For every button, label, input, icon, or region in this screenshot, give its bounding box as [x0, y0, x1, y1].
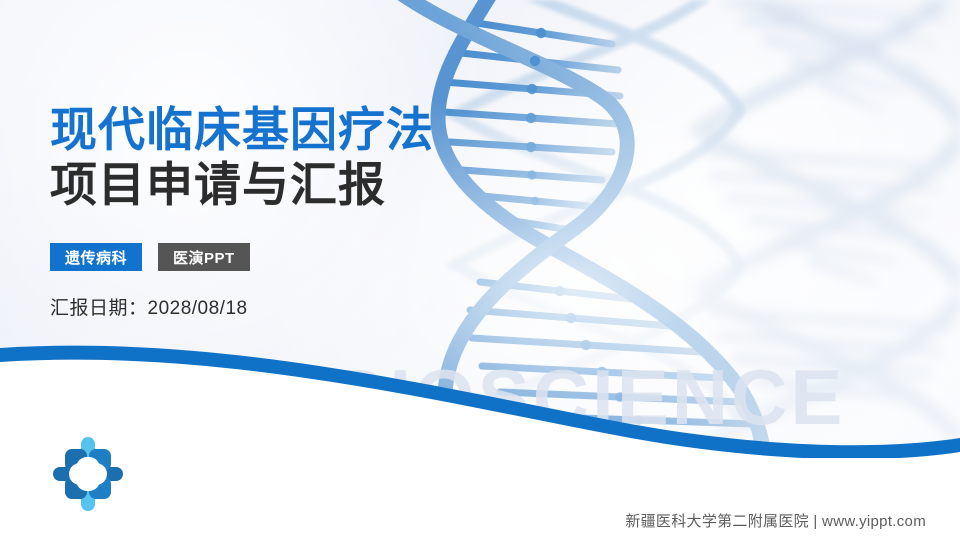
page-title-line-2: 项目申请与汇报	[50, 159, 570, 212]
badge-group: 遗传病科 医演PPT	[50, 243, 570, 271]
report-date: 汇报日期：2028/08/18	[50, 293, 570, 320]
badge-source: 医演PPT	[158, 243, 250, 271]
badge-department: 遗传病科	[50, 243, 142, 271]
cover-text-block: 现代临床基因疗法 项目申请与汇报 遗传病科 医演PPT 汇报日期：2028/08…	[50, 104, 570, 320]
footer-credit: 新疆医科大学第二附属医院 | www.yippt.com	[625, 510, 926, 531]
logo-center-cutout-horizontal	[69, 463, 107, 485]
medical-cross-diamond-logo	[52, 436, 124, 512]
page-title-line-1: 现代临床基因疗法	[50, 104, 570, 157]
cover-slide: BIOSCIENCE 现代临床基因疗法 项目申请与汇报 遗传病科 医演PPT 汇…	[0, 0, 960, 540]
